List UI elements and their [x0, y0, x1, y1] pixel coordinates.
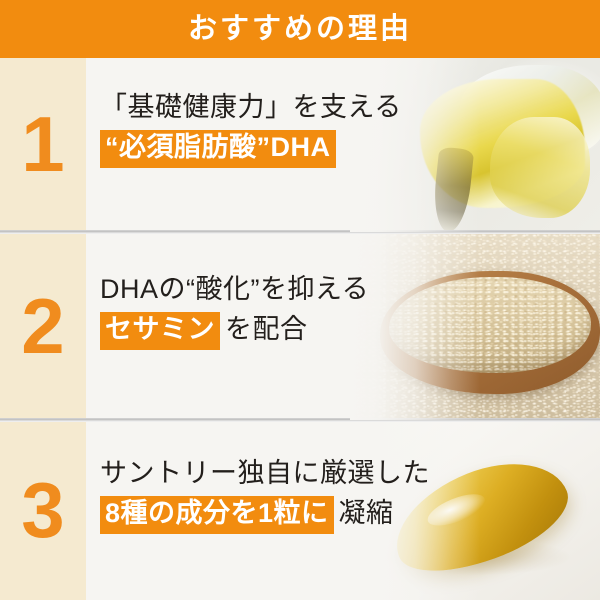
reason-highlight-1: “必須脂肪酸”DHA: [100, 130, 336, 168]
reason-tail-3: 凝縮: [339, 498, 394, 530]
reason-row-3: 3 サントリー独自に厳選した 8種の成分を1粒に 凝縮: [0, 422, 600, 600]
header-banner: おすすめの理由: [0, 0, 600, 58]
reason-number-1: 1: [21, 105, 64, 183]
reason-line2-2: セサミン を配合: [100, 312, 540, 350]
reason-number-panel-2: 2: [0, 234, 86, 420]
page-title: おすすめの理由: [188, 15, 412, 44]
reason-tail-2: を配合: [225, 314, 308, 346]
reason-line1-1: 「基礎健康力」を支える: [100, 92, 540, 124]
reason-row-2: 2 DHAの“酸化”を抑える セサミン を配合: [0, 234, 600, 420]
reason-line2-1: “必須脂肪酸”DHA: [100, 130, 540, 168]
reason-highlight-2: セサミン: [100, 312, 220, 350]
promo-infographic: おすすめの理由 1 「基礎健康力」を支える “必須脂肪酸”DHA 2: [0, 0, 600, 600]
reason-line1-2: DHAの“酸化”を抑える: [100, 274, 540, 306]
reason-number-panel-1: 1: [0, 58, 86, 232]
reason-text-1: 「基礎健康力」を支える “必須脂肪酸”DHA: [100, 92, 540, 168]
reason-number-2: 2: [21, 287, 64, 365]
reason-text-3: サントリー独自に厳選した 8種の成分を1粒に 凝縮: [100, 458, 540, 534]
reason-line2-3: 8種の成分を1粒に 凝縮: [100, 496, 540, 534]
reason-text-2: DHAの“酸化”を抑える セサミン を配合: [100, 274, 540, 350]
reason-line1-3: サントリー独自に厳選した: [100, 458, 540, 490]
reason-row-1: 1 「基礎健康力」を支える “必須脂肪酸”DHA: [0, 58, 600, 232]
reason-number-3: 3: [21, 471, 64, 549]
reason-highlight-3: 8種の成分を1粒に: [100, 496, 334, 534]
reason-number-panel-3: 3: [0, 422, 86, 600]
